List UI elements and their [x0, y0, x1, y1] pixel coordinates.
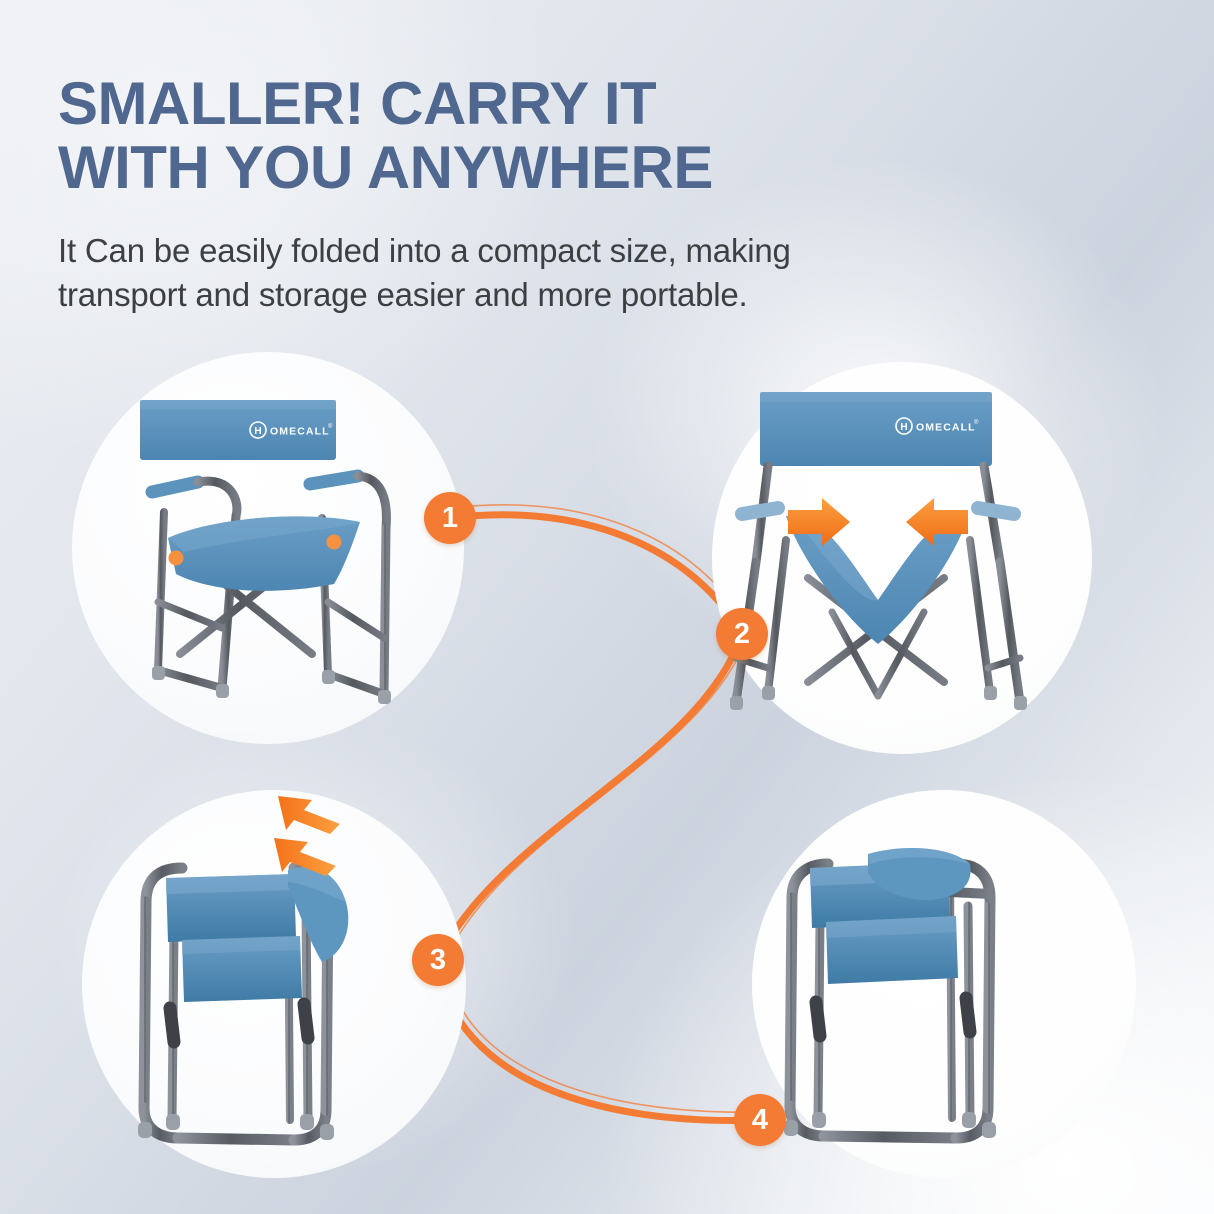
headline-line-1: SMALLER! CARRY IT — [58, 72, 1168, 136]
page-subtitle: It Can be easily folded into a compact s… — [58, 229, 1108, 317]
headline-line-2: WITH YOU ANYWHERE — [58, 136, 1168, 200]
svg-text:®: ® — [328, 423, 333, 430]
chair-illustration-folded-flat — [752, 790, 1136, 1178]
step-panel-2: H OMECALL ® — [712, 362, 1092, 754]
step-panel-1: H OMECALL ® — [72, 352, 464, 744]
chair-backrest-2: H OMECALL ® — [760, 392, 992, 466]
fold-arrows-3 — [274, 796, 340, 876]
subhead-line-2: transport and storage easier and more po… — [58, 273, 1108, 317]
svg-text:OMECALL: OMECALL — [270, 426, 330, 438]
svg-text:H: H — [254, 426, 261, 437]
chair-illustration-seat-lift: H OMECALL ® — [712, 362, 1092, 754]
svg-text:OMECALL: OMECALL — [916, 422, 976, 434]
chair-seat-1 — [168, 516, 360, 590]
chair-backrest-1: H OMECALL ® — [140, 400, 336, 460]
page-title: SMALLER! CARRY IT WITH YOU ANYWHERE — [58, 72, 1168, 199]
step-badge-2[interactable]: 2 — [716, 608, 768, 660]
step-panel-4 — [752, 790, 1136, 1178]
chair-illustration-backrest-fold — [82, 790, 466, 1178]
step-badge-3[interactable]: 3 — [412, 934, 464, 986]
step-panel-3 — [82, 790, 466, 1178]
step-badge-1[interactable]: 1 — [424, 492, 476, 544]
svg-text:H: H — [900, 422, 907, 433]
svg-text:®: ® — [974, 419, 979, 426]
folded-fabric-3 — [166, 867, 348, 1002]
subhead-line-1: It Can be easily folded into a compact s… — [58, 229, 1108, 273]
step-badge-4[interactable]: 4 — [734, 1094, 786, 1146]
folded-fabric-4 — [810, 848, 971, 984]
chair-illustration-unfolded: H OMECALL ® — [72, 352, 464, 744]
header-block: SMALLER! CARRY IT WITH YOU ANYWHERE It C… — [58, 72, 1168, 317]
